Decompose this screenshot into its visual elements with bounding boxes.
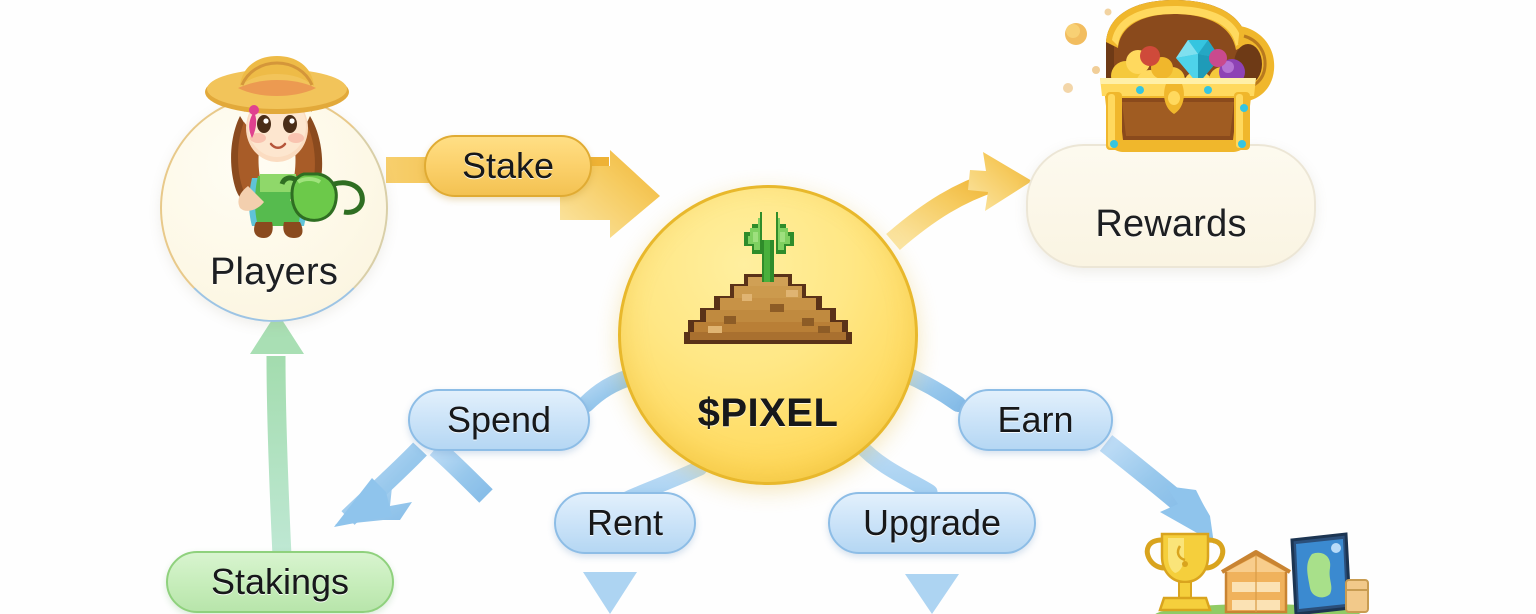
edge-label-earn[interactable]: Earn [958, 389, 1113, 451]
node-players-label: Players [210, 251, 338, 294]
edge-label-spend-text: Spend [447, 399, 551, 441]
edge-label-stakings-text: Stakings [211, 561, 349, 603]
edge-label-rent-text: Rent [587, 502, 663, 544]
edge-label-stake[interactable]: Stake [424, 135, 592, 197]
diagram-canvas: Players [0, 0, 1536, 614]
edge-label-upgrade[interactable]: Upgrade [828, 492, 1036, 554]
edge-label-stakings[interactable]: Stakings [166, 551, 394, 613]
edge-label-earn-text: Earn [997, 399, 1073, 441]
edge-pixel-to-rewards [893, 152, 1032, 242]
node-rewards[interactable]: Rewards [1026, 144, 1316, 268]
node-pixel[interactable]: $PIXEL [618, 185, 918, 485]
edge-label-rent[interactable]: Rent [554, 492, 696, 554]
edge-label-spend[interactable]: Spend [408, 389, 590, 451]
edge-label-stake-text: Stake [462, 145, 554, 187]
node-pixel-label: $PIXEL [698, 391, 839, 436]
trophy-house-land-deed-icon [1140, 520, 1370, 614]
node-rewards-label: Rewards [1095, 203, 1246, 246]
edge-stakings-to-players [250, 312, 304, 556]
node-players[interactable]: Players [160, 94, 388, 322]
edge-label-upgrade-text: Upgrade [863, 502, 1001, 544]
